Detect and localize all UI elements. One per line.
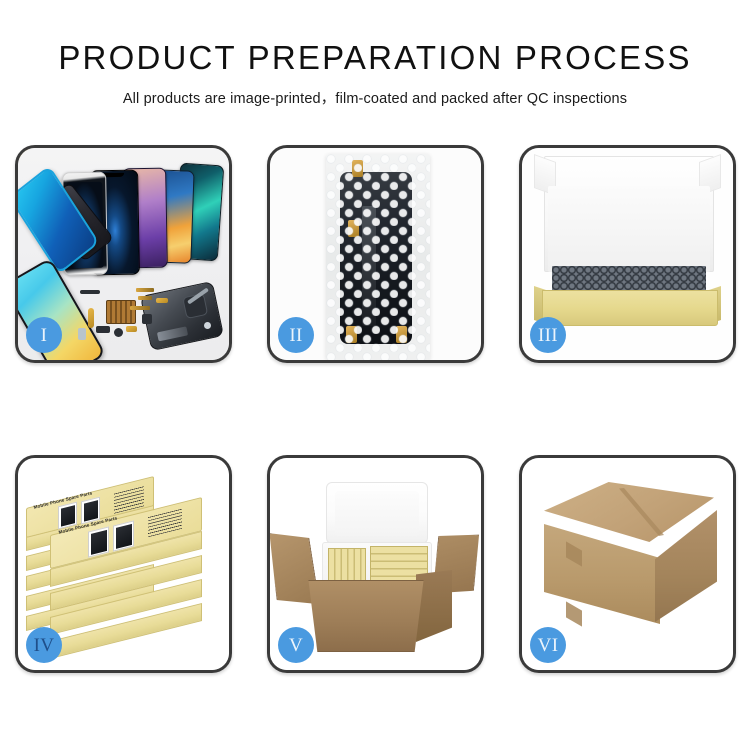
part-flex-cable-2 <box>138 296 152 300</box>
process-step-panel-1[interactable]: I <box>15 145 232 363</box>
step-badge-4: IV <box>26 627 62 663</box>
part-vibrator <box>142 314 152 324</box>
part-button <box>114 328 123 337</box>
part-camera-module <box>96 326 110 333</box>
part-chip-grid <box>106 300 136 324</box>
process-step-panel-2[interactable]: II <box>267 145 484 363</box>
part-contact-strip <box>156 298 168 303</box>
process-step-panel-3[interactable]: III <box>519 145 736 363</box>
product-preparation-process-infographic: PRODUCT PREPARATION PROCESS All products… <box>0 0 750 750</box>
step-badge-3: III <box>530 317 566 353</box>
page-subtitle: All products are image-printed，film-coat… <box>0 87 750 108</box>
front-box-screen-image-1 <box>88 526 109 557</box>
box-front-yellow <box>542 290 718 326</box>
bubble-wrap-bag <box>326 154 430 360</box>
process-step-panel-6[interactable]: VI <box>519 455 736 673</box>
part-flex-cable-1 <box>136 288 154 292</box>
process-step-panel-5[interactable]: V <box>267 455 484 673</box>
part-sim-tray <box>126 326 137 332</box>
process-step-panel-4[interactable]: Mobile Phone Spare Parts Mobile Phone Sp… <box>15 455 232 673</box>
foam-box-lid <box>326 482 428 544</box>
header: PRODUCT PREPARATION PROCESS All products… <box>0 0 750 108</box>
step-badge-1: I <box>26 317 62 353</box>
box-foam-liner <box>548 186 710 272</box>
step-badge-2: II <box>278 317 314 353</box>
part-connector-gold <box>88 308 94 328</box>
page-title: PRODUCT PREPARATION PROCESS <box>0 40 750 77</box>
step-badge-6: VI <box>530 627 566 663</box>
part-antenna-strip <box>80 290 100 294</box>
part-flex-cable-3 <box>130 306 150 310</box>
carton-front-panel <box>302 580 430 652</box>
process-step-grid: I II <box>15 145 737 673</box>
part-sensor <box>78 328 86 340</box>
part-screw <box>204 322 211 329</box>
front-box-screen-image-2 <box>113 520 134 551</box>
step-badge-5: V <box>278 627 314 663</box>
